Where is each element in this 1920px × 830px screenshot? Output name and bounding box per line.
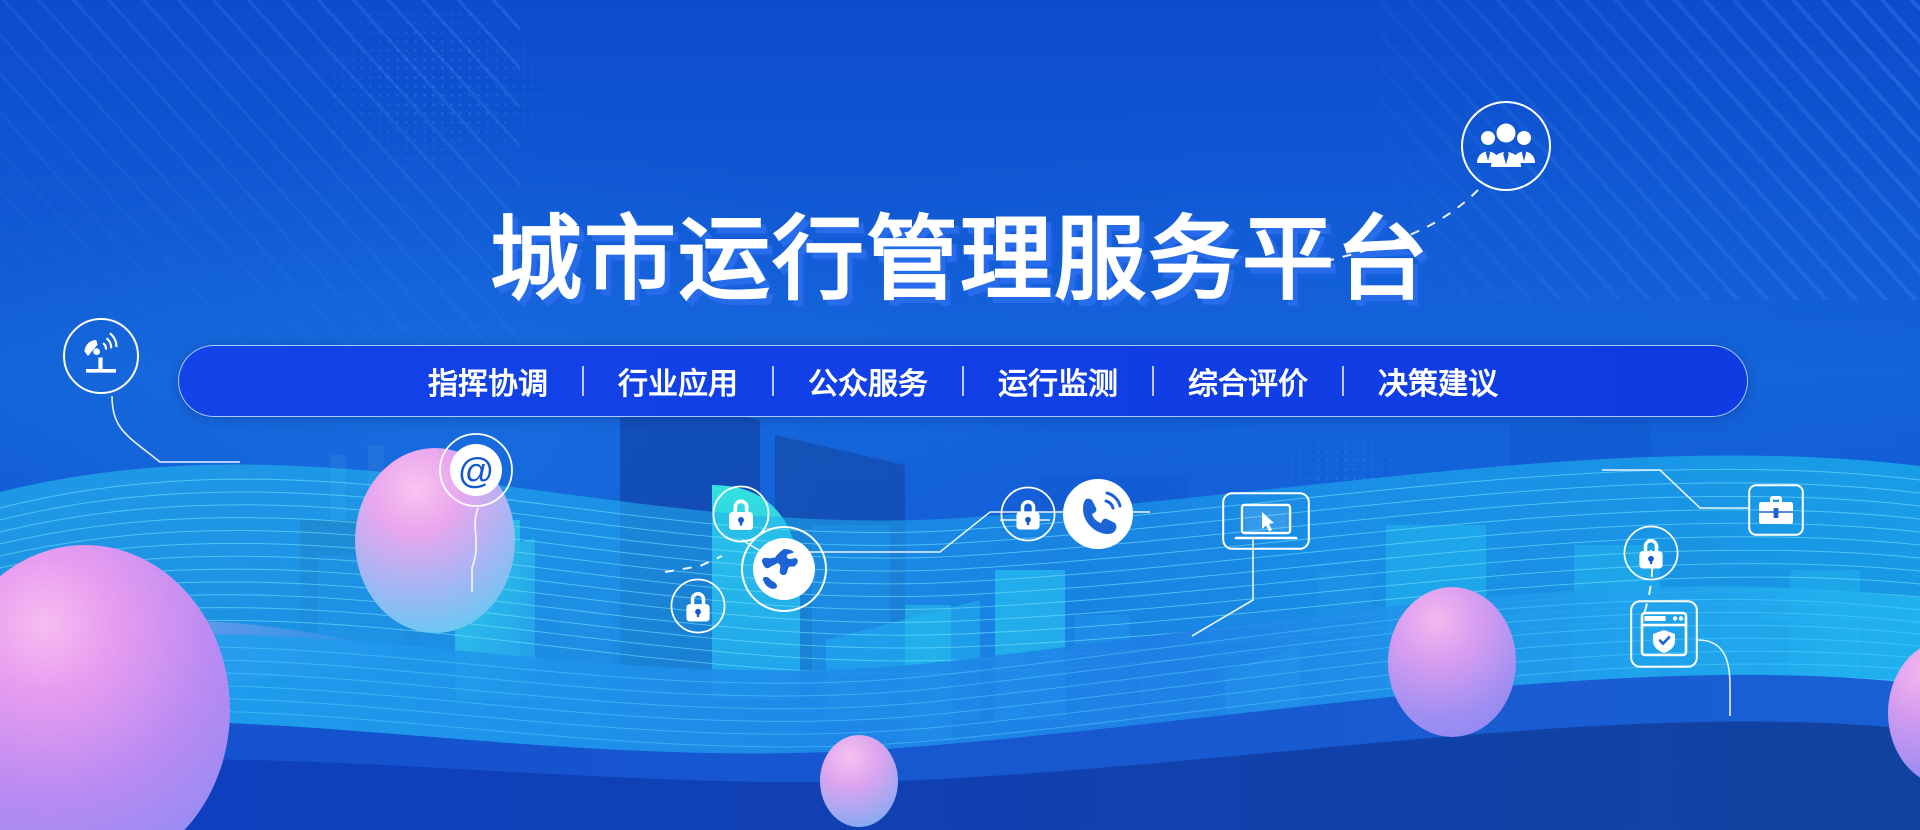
- nav-item-4[interactable]: 运行监测: [964, 359, 1152, 403]
- at-sign-icon[interactable]: @: [438, 432, 514, 508]
- decorative-sphere-bottom: [820, 735, 898, 827]
- lock-icon-center[interactable]: [1000, 486, 1056, 542]
- lock-icon-lower[interactable]: [670, 578, 726, 634]
- globe-icon[interactable]: [740, 525, 828, 613]
- nav-item-6[interactable]: 决策建议: [1344, 359, 1532, 403]
- browser-shield-icon[interactable]: [1630, 600, 1698, 668]
- hero-banner: @: [0, 0, 1920, 830]
- people-group-icon[interactable]: [1460, 100, 1552, 192]
- nav-item-1[interactable]: 指挥协调: [394, 359, 582, 403]
- main-nav[interactable]: 指挥协调行业应用公众服务运行监测综合评价决策建议: [178, 345, 1748, 417]
- satellite-dish-icon[interactable]: [62, 317, 140, 395]
- page-title: 城市运行管理服务平台: [490, 212, 1430, 310]
- page-title-wrapper: 城市运行管理服务平台: [0, 150, 1920, 371]
- svg-text:@: @: [458, 450, 495, 491]
- laptop-cursor-icon[interactable]: [1222, 492, 1310, 550]
- nav-item-5[interactable]: 综合评价: [1154, 359, 1342, 403]
- decorative-sphere-right: [1388, 587, 1516, 737]
- lock-icon-right[interactable]: [1623, 525, 1679, 581]
- phone-call-icon[interactable]: [1062, 478, 1134, 550]
- nav-item-2[interactable]: 行业应用: [584, 359, 772, 403]
- briefcase-icon[interactable]: [1748, 484, 1804, 536]
- nav-item-3[interactable]: 公众服务: [774, 359, 962, 403]
